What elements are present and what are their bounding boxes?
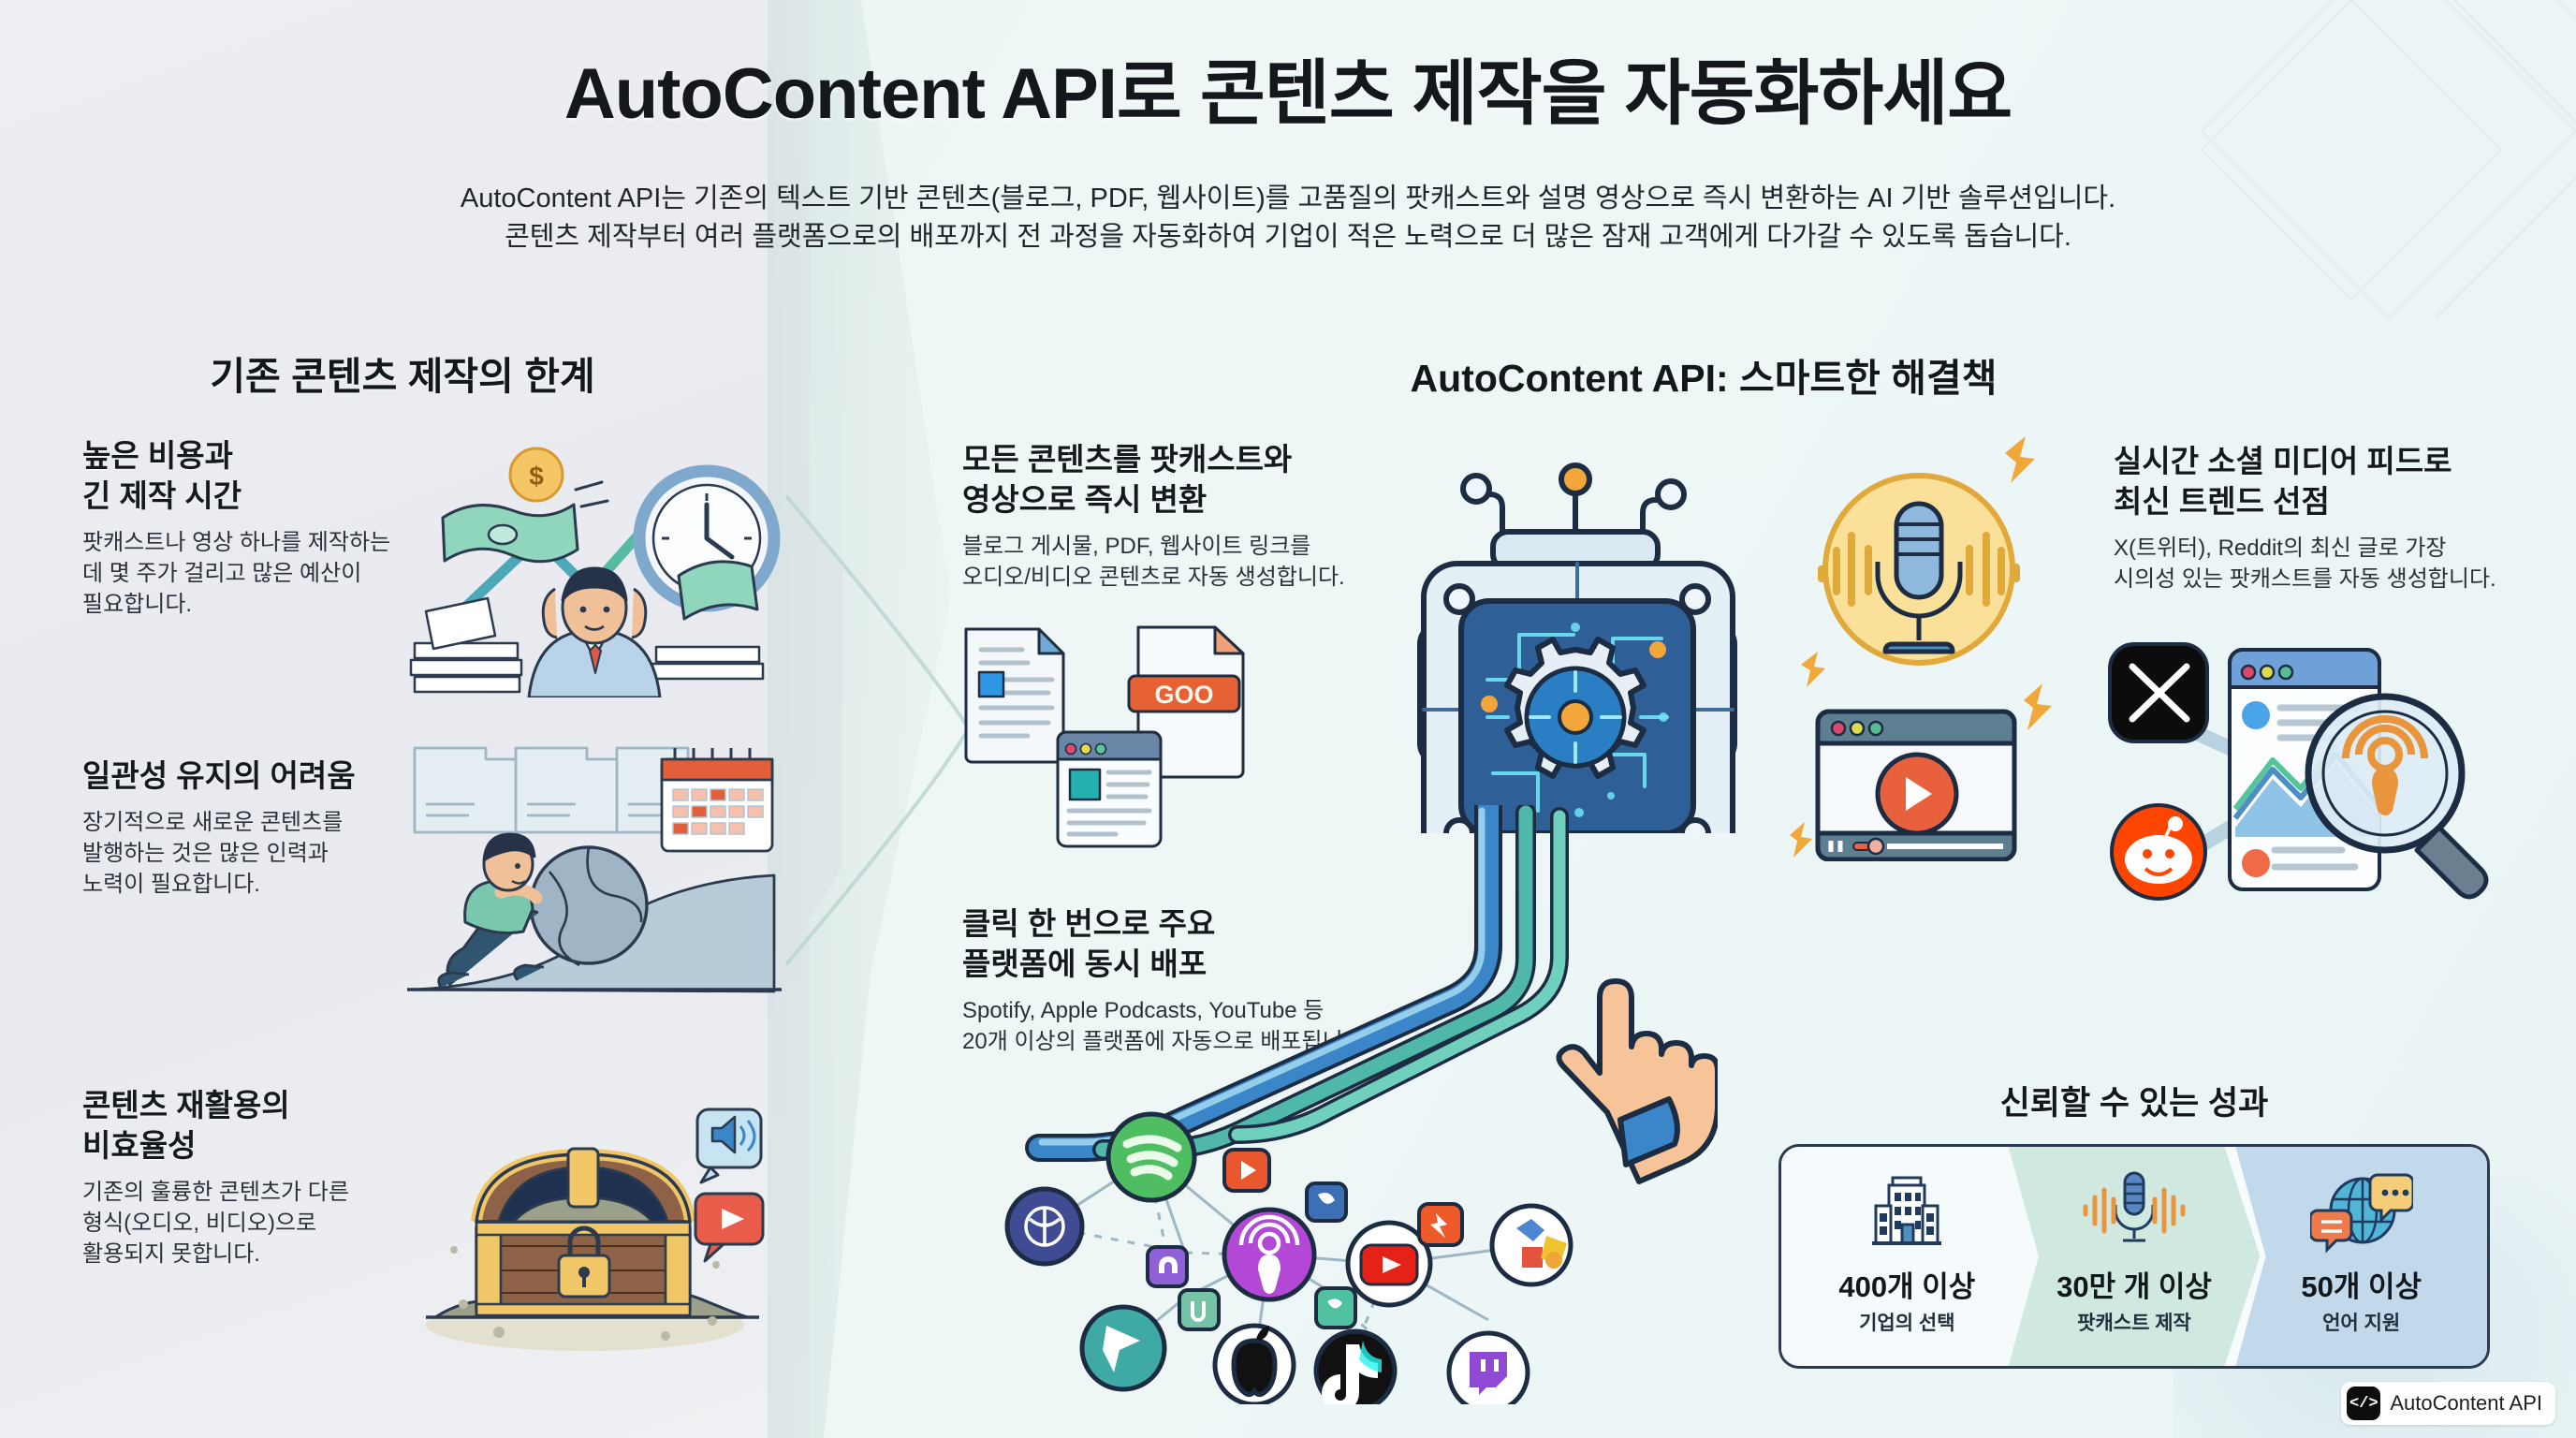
stat-label: 기업의 선택 — [1859, 1308, 1954, 1336]
left-section-heading: 기존 콘텐츠 제작의 한계 — [0, 345, 805, 401]
footer-brand-name: AutoContent API — [2390, 1391, 2542, 1416]
locked-treasure-chest-illustration — [398, 1081, 791, 1362]
stat-number: 400개 이상 — [1838, 1263, 1975, 1305]
feature-item-trends: 실시간 소셜 미디어 피드로 최신 트렌드 선점 X(트위터), Reddit의… — [2114, 442, 2554, 594]
code-brackets-icon: </> — [2347, 1387, 2380, 1420]
subtitle-line-2: 콘텐츠 제작부터 여러 플랫폼으로의 배포까지 전 과정을 자동화하여 기업이 … — [0, 218, 2576, 257]
stressed-man-clock-money-illustration: $ — [398, 426, 791, 697]
ai-chip-processor-illustration — [1362, 403, 1793, 833]
footer-brand-badge: </> AutoContent API — [2341, 1382, 2555, 1425]
feature-title: 모든 콘텐츠를 팟캐스트와 영상으로 즉시 변환 — [962, 440, 1402, 521]
stats-heading: 신뢰할 수 있는 성과 — [1760, 1077, 2509, 1124]
microphone-waveform-icon — [2078, 1162, 2190, 1259]
subtitle-line-1: AutoContent API는 기존의 텍스트 기반 콘텐츠(블로그, PDF… — [0, 180, 2576, 218]
svg-text:$: $ — [529, 462, 544, 491]
limitation-title: 높은 비용과 긴 제작 시간 — [82, 436, 438, 517]
office-building-icon — [1870, 1162, 1943, 1259]
feature-item-convert: 모든 콘텐츠를 팟캐스트와 영상으로 즉시 변환 블로그 게시물, PDF, 웹… — [962, 440, 1402, 593]
feature-body: X(트위터), Reddit의 최신 글로 가장 시의성 있는 팟캐스트를 자동… — [2114, 533, 2554, 594]
platform-network-illustration — [964, 1067, 1582, 1404]
globe-chat-icon — [2310, 1162, 2413, 1259]
stats-panel: 400개 이상 기업의 선택 — [1778, 1144, 2490, 1369]
x-reddit-trend-search-illustration — [2087, 618, 2555, 908]
feature-title: 실시간 소셜 미디어 피드로 최신 트렌드 선점 — [2114, 442, 2554, 522]
page-title: AutoContent API로 콘텐츠 제작을 자동화하세요 — [0, 36, 2576, 139]
stat-card-languages: 50개 이상 언어 지원 — [2235, 1147, 2487, 1366]
right-section-heading: AutoContent API: 스마트한 해결책 — [973, 346, 2434, 403]
infographic-root: AutoContent API로 콘텐츠 제작을 자동화하세요 AutoCont… — [0, 0, 2576, 1438]
limitation-body: 팟캐스트나 영상 하나를 제작하는 데 몇 주가 걸리고 많은 예산이 필요합니… — [82, 527, 438, 620]
sisyphus-boulder-calendar-illustration — [398, 735, 791, 1016]
stat-number: 50개 이상 — [2301, 1263, 2422, 1305]
stat-card-podcasts: 30만 개 이상 팟캐스트 제작 — [2009, 1147, 2261, 1366]
stat-label: 언어 지원 — [2322, 1308, 2400, 1336]
svg-text:GOO: GOO — [1154, 681, 1213, 709]
limitation-item-cost-time: 높은 비용과 긴 제작 시간 팟캐스트나 영상 하나를 제작하는 데 몇 주가 … — [82, 436, 438, 620]
stat-card-companies: 400개 이상 기업의 선택 — [1781, 1147, 2033, 1366]
stat-label: 팟캐스트 제작 — [2077, 1308, 2191, 1336]
page-subtitle: AutoContent API는 기존의 텍스트 기반 콘텐츠(블로그, PDF… — [0, 180, 2576, 257]
audio-video-output-illustration — [1778, 431, 2106, 861]
stat-number: 30만 개 이상 — [2056, 1263, 2212, 1305]
feature-body: 블로그 게시물, PDF, 웹사이트 링크를 오디오/비디오 콘텐츠로 자동 생… — [962, 531, 1402, 593]
